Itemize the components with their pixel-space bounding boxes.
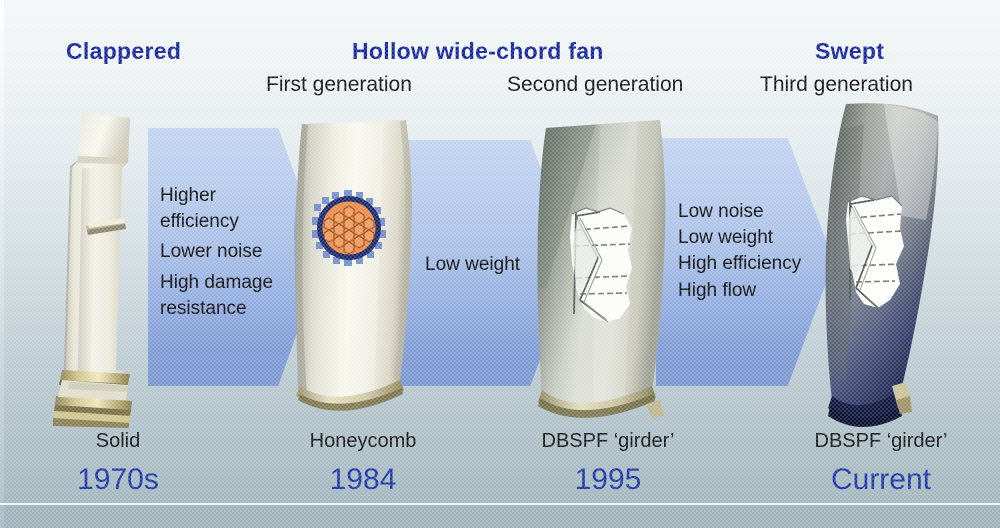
caption-blade-4-year: Current <box>806 463 956 497</box>
benefit-line: High efficiency <box>678 251 843 277</box>
caption-blade-2-name: Honeycomb <box>293 430 433 453</box>
fan-blade-solid-clappered-icon <box>52 108 177 428</box>
caption-blade-3-year: 1995 <box>534 463 682 497</box>
caption-blade-2-year: 1984 <box>293 463 433 497</box>
label-second-generation: Second generation <box>507 73 683 97</box>
benefit-line: Low weight <box>425 252 575 278</box>
benefit-line: High flow <box>678 278 843 304</box>
heading-hollow-wide-chord-fan: Hollow wide-chord fan <box>352 38 604 65</box>
fan-blade-evolution-slide: Higher efficiency Lower noise High damag… <box>0 0 1000 528</box>
left-edge-highlight <box>0 0 4 528</box>
caption-blade-4-name: DBSPF ‘girder’ <box>806 430 956 453</box>
bottom-strip <box>0 503 1000 528</box>
benefit-line: resistance <box>160 296 320 322</box>
benefit-arrow-1-text: Higher efficiency Lower noise High damag… <box>160 183 320 322</box>
benefit-arrow-3-text: Low noise Low weight High efficiency Hig… <box>678 199 843 304</box>
benefit-arrow-2-text: Low weight <box>425 252 575 278</box>
benefit-line: Higher <box>160 183 320 209</box>
label-first-generation: First generation <box>266 73 412 97</box>
benefit-line: efficiency <box>160 209 320 235</box>
benefit-line: Lower noise <box>160 239 320 265</box>
caption-blade-1-year: 1970s <box>58 463 178 497</box>
bottom-hairline <box>0 503 1000 505</box>
benefit-line: High damage <box>160 270 320 296</box>
label-third-generation: Third generation <box>760 73 913 97</box>
benefit-line: Low noise <box>678 199 843 225</box>
heading-clappered: Clappered <box>66 38 181 65</box>
heading-swept: Swept <box>815 38 884 65</box>
caption-blade-1-name: Solid <box>58 430 178 453</box>
benefit-line: Low weight <box>678 225 843 251</box>
caption-blade-3-name: DBSPF ‘girder’ <box>534 430 682 453</box>
